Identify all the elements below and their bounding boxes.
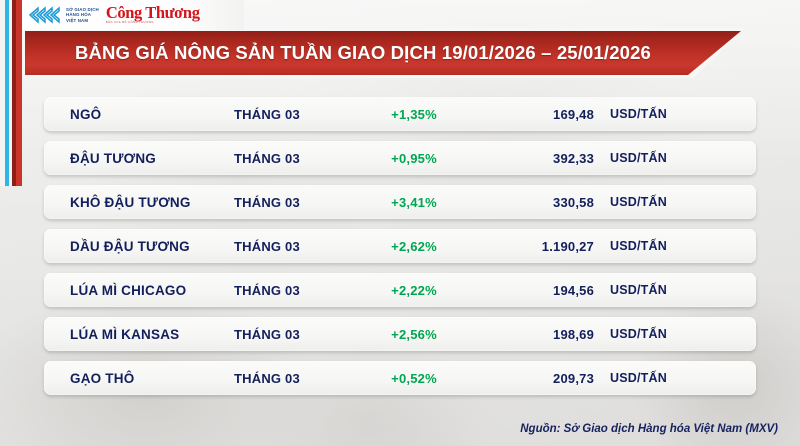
title-banner: BẢNG GIÁ NÔNG SẢN TUẦN GIAO DỊCH 19/01/2… [22,28,744,78]
price-unit: USD/TẤN [594,371,714,385]
contract-month: THÁNG 03 [234,107,354,122]
table-row: LÚA MÌ KANSAS THÁNG 03 +2,56% 198,69 USD… [44,317,756,351]
price-value: 1.190,27 [474,239,594,254]
change-percent: +2,62% [354,239,474,254]
price-unit: USD/TẤN [594,327,714,341]
commodity-name: DẦU ĐẬU TƯƠNG [44,239,234,254]
commodity-name: GẠO THÔ [44,371,234,386]
price-unit: USD/TẤN [594,151,714,165]
price-value: 330,58 [474,195,594,210]
mxv-line-3: VIỆT NAM [66,18,88,23]
chevron-wave-icon [28,4,62,26]
infographic-canvas: SỞ GIAO DỊCH HÀNG HÓA VIỆT NAM Công Thươ… [0,0,800,446]
table-row: NGÔ THÁNG 03 +1,35% 169,48 USD/TẤN [44,97,756,131]
left-accent-bars [0,0,22,186]
contract-month: THÁNG 03 [234,239,354,254]
contract-month: THÁNG 03 [234,283,354,298]
mxv-line-1: SỞ GIAO DỊCH [66,7,99,12]
table-row: GẠO THÔ THÁNG 03 +0,52% 209,73 USD/TẤN [44,361,756,395]
change-percent: +0,95% [354,151,474,166]
commodity-name: LÚA MÌ CHICAGO [44,283,234,298]
contract-month: THÁNG 03 [234,327,354,342]
price-unit: USD/TẤN [594,283,714,297]
contract-month: THÁNG 03 [234,151,354,166]
commodity-name: ĐẬU TƯƠNG [44,151,234,166]
change-percent: +1,35% [354,107,474,122]
table-row: DẦU ĐẬU TƯƠNG THÁNG 03 +2,62% 1.190,27 U… [44,229,756,263]
source-attribution: Nguồn: Sở Giao dịch Hàng hóa Việt Nam (M… [520,423,778,435]
price-unit: USD/TẤN [594,195,714,209]
mxv-line-2: HÀNG HÓA [66,12,91,17]
change-percent: +0,52% [354,371,474,386]
mxv-wordmark: SỞ GIAO DỊCH HÀNG HÓA VIỆT NAM [66,7,99,24]
contract-month: THÁNG 03 [234,371,354,386]
change-percent: +3,41% [354,195,474,210]
table-row: LÚA MÌ CHICAGO THÁNG 03 +2,22% 194,56 US… [44,273,756,307]
table-row: ĐẬU TƯƠNG THÁNG 03 +0,95% 392,33 USD/TẤN [44,141,756,175]
commodity-name: NGÔ [44,107,234,122]
price-unit: USD/TẤN [594,239,714,253]
publisher-tagline: BÁO CỦA BỘ CÔNG THƯƠNG [106,22,154,25]
commodity-name: LÚA MÌ KANSAS [44,327,234,342]
page-title: BẢNG GIÁ NÔNG SẢN TUẦN GIAO DỊCH 19/01/2… [75,42,651,64]
price-table: NGÔ THÁNG 03 +1,35% 169,48 USD/TẤN ĐẬU T… [44,97,756,395]
change-percent: +2,56% [354,327,474,342]
price-value: 198,69 [474,327,594,342]
price-unit: USD/TẤN [594,107,714,121]
price-value: 392,33 [474,151,594,166]
publisher-name: Công Thương [106,5,200,22]
title-banner-fill: BẢNG GIÁ NÔNG SẢN TUẦN GIAO DỊCH 19/01/2… [25,31,741,75]
table-row: KHÔ ĐẬU TƯƠNG THÁNG 03 +3,41% 330,58 USD… [44,185,756,219]
price-value: 209,73 [474,371,594,386]
price-value: 169,48 [474,107,594,122]
price-value: 194,56 [474,283,594,298]
publisher-logo: Công Thương BÁO CỦA BỘ CÔNG THƯƠNG [106,5,200,25]
logo-strip: SỞ GIAO DỊCH HÀNG HÓA VIỆT NAM Công Thươ… [22,0,244,30]
commodity-name: KHÔ ĐẬU TƯƠNG [44,195,234,210]
change-percent: +2,22% [354,283,474,298]
contract-month: THÁNG 03 [234,195,354,210]
